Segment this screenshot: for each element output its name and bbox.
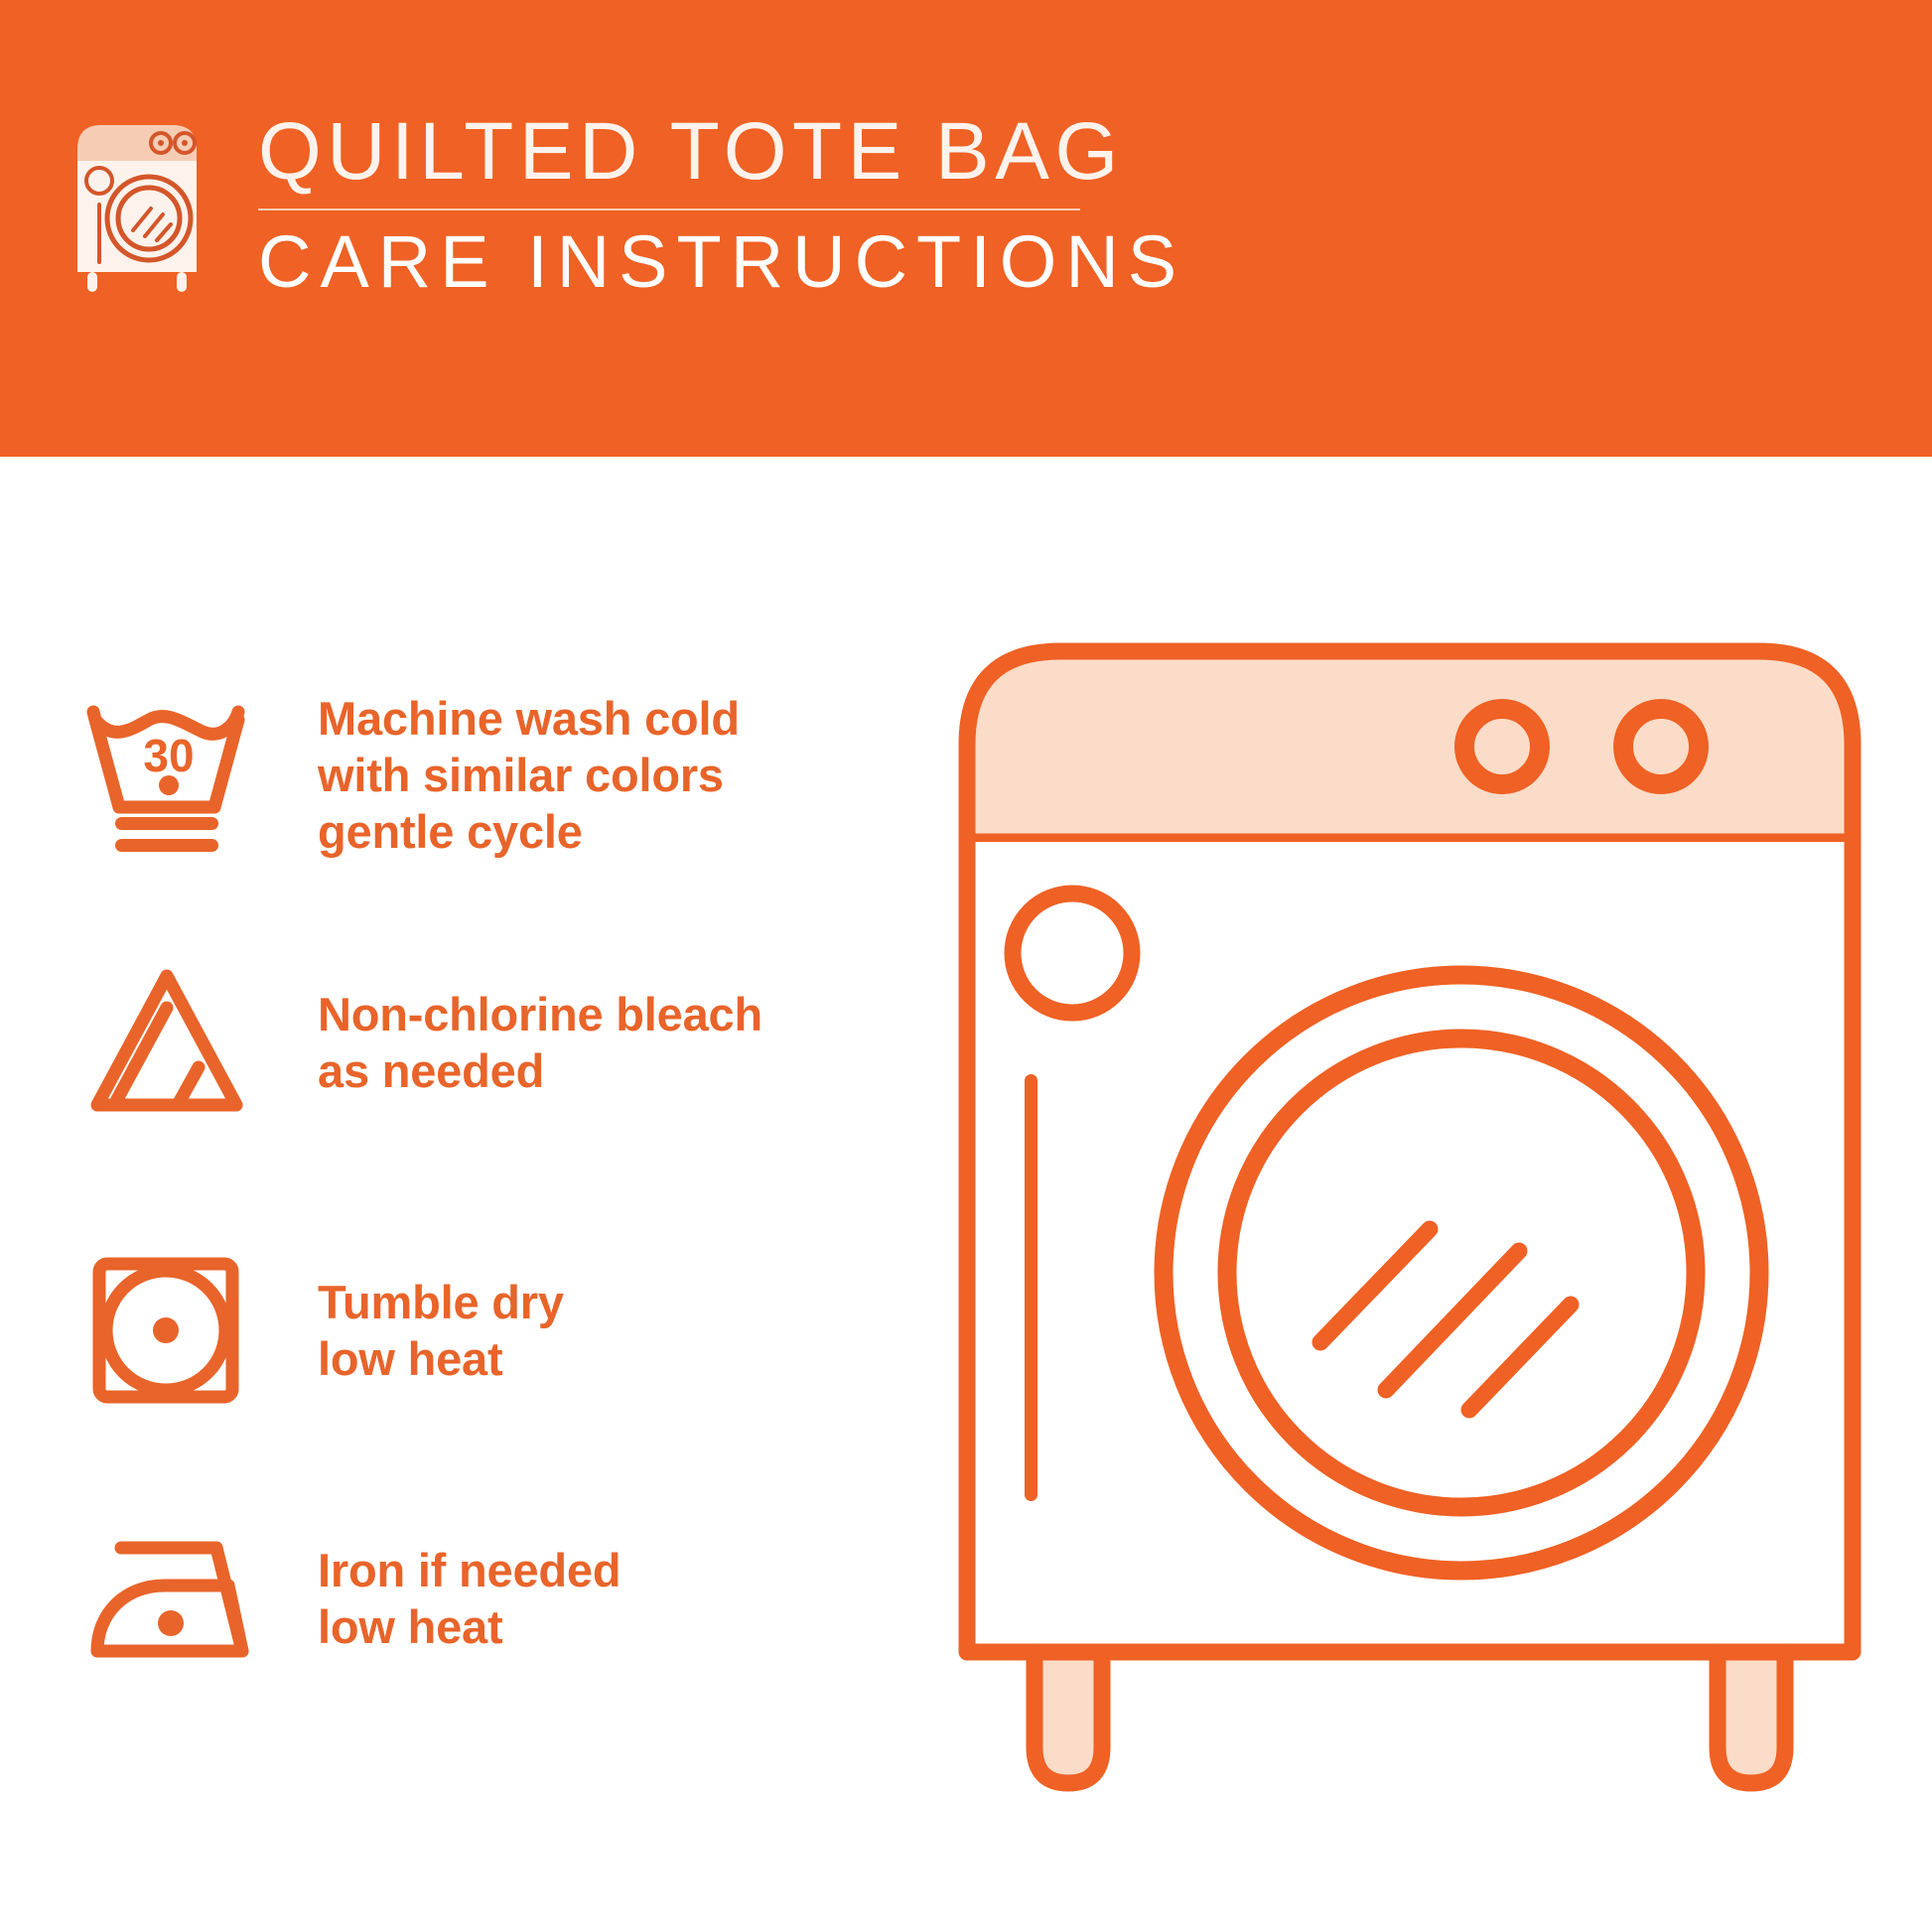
page-title: QUILTED TOTE BAG (258, 109, 1318, 195)
foot-left (1035, 1652, 1102, 1783)
care-label: Tumble dry low heat (318, 1274, 564, 1387)
wash-temperature-label: 30 (143, 730, 194, 781)
care-label: Iron if needed low heat (318, 1542, 621, 1655)
care-label: Non-chlorine bleach as needed (318, 986, 762, 1099)
washing-machine-illustration (953, 625, 1866, 1837)
care-label: Machine wash cold with similar colors ge… (318, 690, 740, 860)
detergent-slot (1025, 1074, 1037, 1501)
page-subtitle: CARE INSTRUCTIONS (258, 222, 1318, 302)
care-row: Non-chlorine bleach as needed (77, 953, 951, 1132)
foot-right (1718, 1652, 1785, 1783)
tumble-dry-low-icon (77, 1241, 256, 1420)
control-panel (967, 651, 1853, 842)
header-titles: QUILTED TOTE BAG CARE INSTRUCTIONS (258, 107, 1318, 302)
care-row: 30 Machine wash cold with similar colors… (77, 685, 951, 864)
machine-wash-30-gentle-icon: 30 (77, 685, 256, 864)
washing-machine-icon (68, 115, 207, 294)
care-row: Tumble dry low heat (77, 1241, 951, 1420)
header-content: QUILTED TOTE BAG CARE INSTRUCTIONS (68, 107, 1318, 306)
title-divider (258, 208, 1080, 210)
non-chlorine-bleach-icon (77, 953, 256, 1132)
care-row: Iron if needed low heat (77, 1509, 951, 1688)
iron-low-heat-icon (77, 1509, 256, 1688)
header-banner: QUILTED TOTE BAG CARE INSTRUCTIONS (0, 0, 1932, 457)
